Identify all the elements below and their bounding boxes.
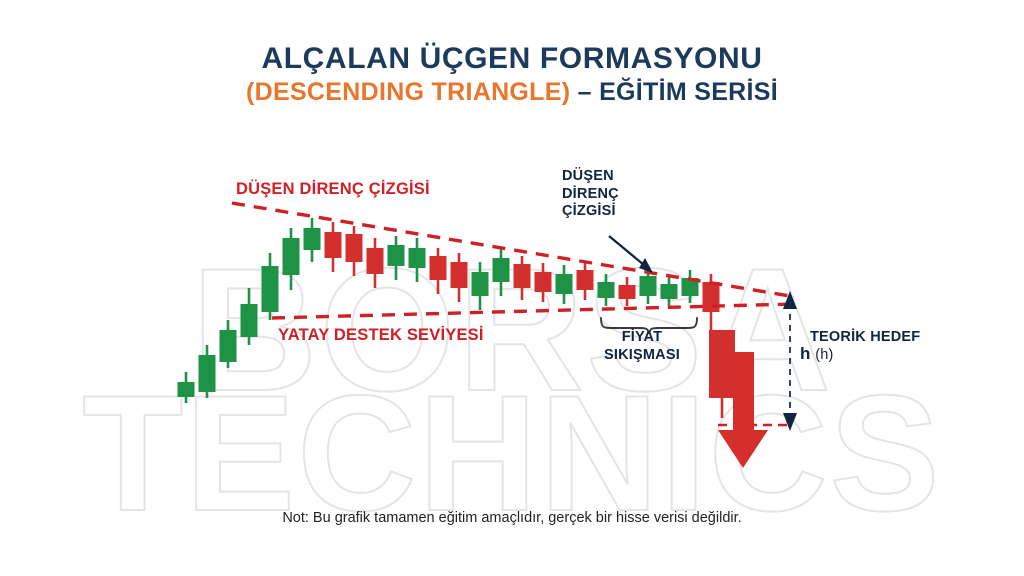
candle-body (178, 382, 195, 397)
label-theoretical-target: TEORİK HEDEF (810, 329, 920, 345)
candle-body (493, 258, 510, 282)
candle-body (451, 262, 468, 288)
title-block: ALÇALAN ÜÇGEN FORMASYONU (DESCENDING TRI… (0, 42, 1024, 107)
resistance-pointer-arrow (609, 236, 653, 273)
label-price-squeeze: FİYAT SIKIŞMASI (604, 329, 680, 364)
candle-body (535, 272, 552, 292)
candle-series (178, 218, 736, 418)
candle-body (598, 282, 615, 298)
candle-body (709, 330, 735, 398)
candle-body (661, 284, 678, 299)
candle-body (241, 304, 258, 337)
resistance-right-line3: ÇİZGİSİ (562, 203, 619, 221)
candle-body (199, 355, 216, 392)
candle-body (304, 228, 321, 250)
squeeze-line2: SIKIŞMASI (604, 347, 680, 365)
candle-body (367, 248, 384, 274)
height-paren: (h) (815, 347, 833, 363)
candle-body (577, 270, 594, 290)
label-descending-resistance-right: DÜŞEN DİRENÇ ÇİZGİSİ (562, 168, 619, 221)
candle-body (262, 266, 279, 312)
label-horizontal-support: YATAY DESTEK SEVİYESİ (278, 326, 484, 345)
candle-body (640, 276, 657, 296)
resistance-right-line2: DİRENÇ (562, 186, 619, 204)
page-title: ALÇALAN ÜÇGEN FORMASYONU (0, 42, 1024, 75)
candle-body (619, 285, 636, 299)
candle-body (472, 272, 489, 296)
label-descending-resistance-left: DÜŞEN DİRENÇ ÇİZGİSİ (236, 180, 430, 199)
candle-body (556, 274, 573, 294)
candle-body (409, 248, 426, 268)
candle-body (514, 264, 531, 288)
footer-disclaimer: Not: Bu grafik tamamen eğitim amaçlıdır,… (0, 510, 1024, 526)
candle-body (220, 330, 237, 362)
page-subtitle: (DESCENDING TRIANGLE) – EĞİTİM SERİSİ (0, 79, 1024, 107)
candle-body (325, 232, 342, 258)
label-height-measure: h (h) (800, 344, 834, 364)
candle-body (346, 234, 363, 262)
subtitle-series: EĞİTİM SERİSİ (599, 78, 778, 106)
candle-body (388, 245, 405, 266)
candle-body (283, 238, 300, 275)
subtitle-dash: – (578, 78, 599, 106)
chart-canvas: BORSA TECHNICS ALÇALAN ÜÇGEN FORMASYONU … (0, 0, 1024, 576)
squeeze-line1: FİYAT (604, 329, 680, 347)
height-symbol: h (800, 344, 811, 363)
resistance-right-line1: DÜŞEN (562, 168, 619, 186)
subtitle-english: (DESCENDING TRIANGLE) (246, 78, 578, 106)
candle-body (430, 256, 447, 280)
target-measure-arrow (783, 291, 797, 431)
